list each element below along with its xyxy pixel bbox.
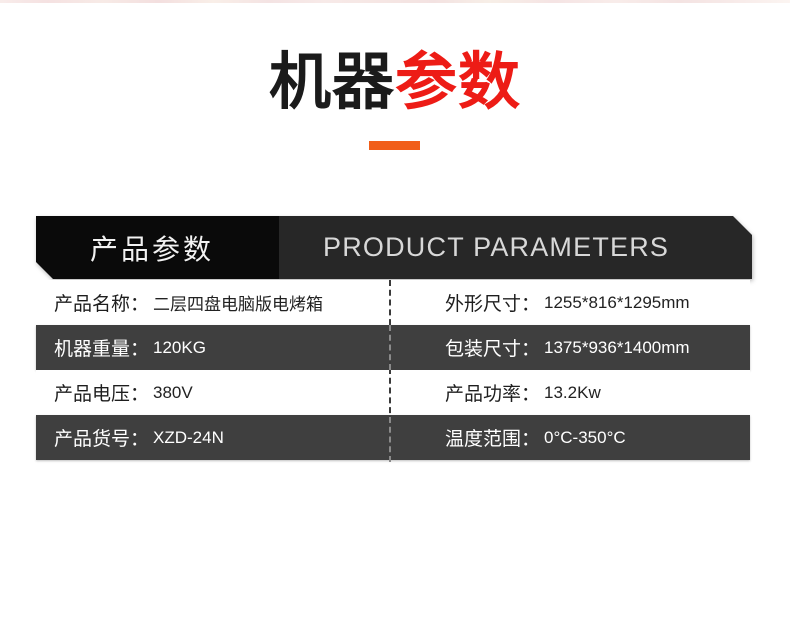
spec-value: 1375*936*1400mm: [544, 338, 690, 358]
spec-label: 产品名称：: [54, 289, 149, 316]
spec-value: 二层四盘电脑版电烤箱: [153, 290, 323, 315]
spec-label: 机器重量：: [54, 334, 149, 361]
spec-value: 13.2Kw: [544, 383, 601, 403]
table-row: 产品货号： XZD-24N 温度范围： 0°C-350°C: [36, 415, 750, 460]
banner-right-block: PRODUCT PARAMETERS: [279, 216, 752, 279]
spec-label: 产品货号：: [54, 424, 149, 451]
column-divider-segment: [389, 325, 391, 370]
spec-label: 温度范围：: [445, 424, 540, 451]
banner-left-block: 产品参数: [36, 216, 279, 279]
spec-label: 产品功率：: [445, 379, 540, 406]
spec-cell-right: 温度范围： 0°C-350°C: [389, 415, 750, 460]
spec-cell-left: 产品货号： XZD-24N: [36, 415, 389, 460]
spec-value: 120KG: [153, 338, 206, 358]
spec-label: 包装尺寸：: [445, 334, 540, 361]
spec-cell-right: 产品功率： 13.2Kw: [389, 370, 750, 415]
column-divider-segment: [389, 417, 391, 462]
page-title-red-part: 参数: [395, 48, 521, 117]
spec-cell-left: 产品电压： 380V: [36, 370, 389, 415]
banner-left-label: 产品参数: [90, 228, 214, 268]
title-underline-bar: [369, 141, 420, 150]
spec-value: 0°C-350°C: [544, 428, 626, 448]
spec-cell-right: 外形尺寸： 1255*816*1295mm: [389, 280, 750, 325]
spec-cell-right: 包装尺寸： 1375*936*1400mm: [389, 325, 750, 370]
spec-label: 产品电压：: [54, 379, 149, 406]
table-row: 产品名称： 二层四盘电脑版电烤箱 外形尺寸： 1255*816*1295mm: [36, 280, 750, 325]
table-row: 产品电压： 380V 产品功率： 13.2Kw: [36, 370, 750, 415]
spec-value: 1255*816*1295mm: [544, 293, 690, 313]
spec-cell-left: 产品名称： 二层四盘电脑版电烤箱: [36, 280, 389, 325]
spec-cell-left: 机器重量： 120KG: [36, 325, 389, 370]
banner-right-label: PRODUCT PARAMETERS: [323, 232, 669, 263]
page-title-dark-part: 机器: [269, 48, 395, 117]
spec-label: 外形尺寸：: [445, 289, 540, 316]
top-edge-strip: [0, 0, 790, 3]
spec-value: 380V: [153, 383, 193, 403]
specifications-table: 产品名称： 二层四盘电脑版电烤箱 外形尺寸： 1255*816*1295mm 机…: [36, 280, 750, 460]
spec-value: XZD-24N: [153, 428, 224, 448]
table-row: 机器重量： 120KG 包装尺寸： 1375*936*1400mm: [36, 325, 750, 370]
page-title: 机器参数: [0, 46, 790, 120]
product-parameters-banner: 产品参数 PRODUCT PARAMETERS: [36, 216, 752, 279]
